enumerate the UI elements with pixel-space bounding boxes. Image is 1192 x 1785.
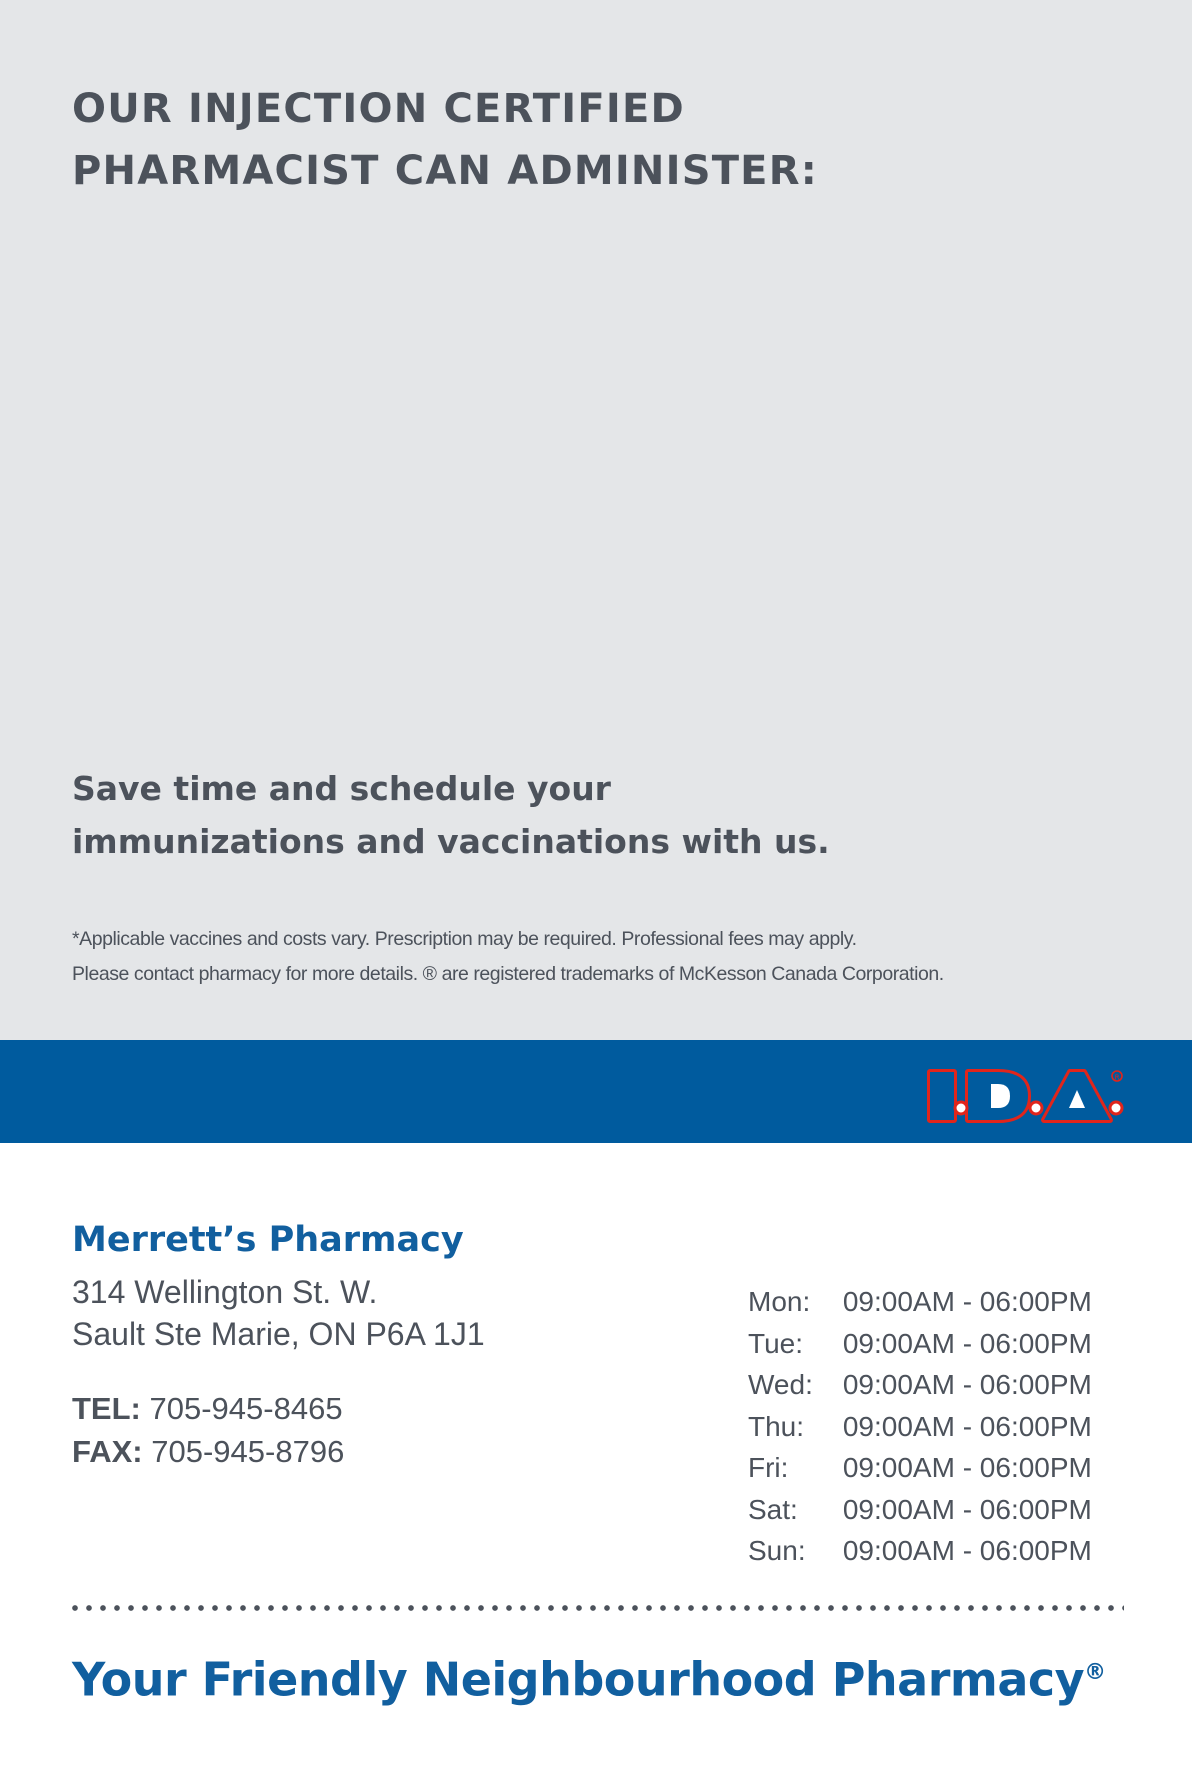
store-name: Merrett’s Pharmacy	[72, 1218, 464, 1262]
store-address: 314 Wellington St. W. Sault Ste Marie, O…	[72, 1271, 485, 1355]
disclaimer-line-1: *Applicable vaccines and costs vary. Pre…	[72, 922, 1132, 957]
ida-logo-icon: R	[924, 1056, 1124, 1126]
promo-message: Save time and schedule your immunization…	[72, 762, 1032, 868]
table-row: Sun: 09:00AM - 06:00PM	[748, 1530, 1092, 1572]
hours-day: Wed:	[748, 1364, 843, 1406]
hours-time: 09:00AM - 06:00PM	[843, 1364, 1092, 1406]
headline-line-1: OUR INJECTION CERTIFIED	[72, 78, 972, 140]
hours-day: Thu:	[748, 1406, 843, 1448]
hours-time: 09:00AM - 06:00PM	[843, 1447, 1092, 1489]
fax-value: 705-945-8796	[151, 1434, 344, 1469]
table-row: Sat: 09:00AM - 06:00PM	[748, 1489, 1092, 1531]
table-row: Thu: 09:00AM - 06:00PM	[748, 1406, 1092, 1448]
hours-time: 09:00AM - 06:00PM	[843, 1489, 1092, 1531]
address-line-2: Sault Ste Marie, ON P6A 1J1	[72, 1313, 485, 1355]
table-row: Tue: 09:00AM - 06:00PM	[748, 1323, 1092, 1365]
hours-day: Sat:	[748, 1489, 843, 1531]
pharmacy-flyer: OUR INJECTION CERTIFIED PHARMACIST CAN A…	[0, 0, 1192, 1785]
telephone-label: TEL:	[72, 1391, 141, 1426]
store-hours-table: Mon: 09:00AM - 06:00PM Tue: 09:00AM - 06…	[748, 1281, 1092, 1572]
headline-line-2: PHARMACIST CAN ADMINISTER:	[72, 140, 972, 202]
table-row: Fri: 09:00AM - 06:00PM	[748, 1447, 1092, 1489]
store-info-section: Merrett’s Pharmacy 314 Wellington St. W.…	[0, 1143, 1192, 1785]
svg-text:R: R	[1115, 1074, 1120, 1082]
hours-time: 09:00AM - 06:00PM	[843, 1406, 1092, 1448]
dotted-divider	[68, 1604, 1124, 1612]
page-title: OUR INJECTION CERTIFIED PHARMACIST CAN A…	[72, 78, 972, 202]
table-row: Mon: 09:00AM - 06:00PM	[748, 1281, 1092, 1323]
promo-line-2: immunizations and vaccinations with us.	[72, 815, 1032, 868]
hours-day: Sun:	[748, 1530, 843, 1572]
promo-line-1: Save time and schedule your	[72, 762, 1032, 815]
hours-day: Mon:	[748, 1281, 843, 1323]
disclaimer-text: *Applicable vaccines and costs vary. Pre…	[72, 922, 1132, 992]
store-contact: TEL: 705-945-8465 FAX: 705-945-8796	[72, 1387, 344, 1473]
table-row: Wed: 09:00AM - 06:00PM	[748, 1364, 1092, 1406]
store-hours-body: Mon: 09:00AM - 06:00PM Tue: 09:00AM - 06…	[748, 1281, 1092, 1572]
hours-day: Fri:	[748, 1447, 843, 1489]
fax-label: FAX:	[72, 1434, 143, 1469]
tagline-text: Your Friendly Neighbourhood Pharmacy	[72, 1652, 1084, 1706]
hours-time: 09:00AM - 06:00PM	[843, 1323, 1092, 1365]
telephone-row: TEL: 705-945-8465	[72, 1387, 344, 1430]
hours-time: 09:00AM - 06:00PM	[843, 1281, 1092, 1323]
telephone-value: 705-945-8465	[150, 1391, 343, 1426]
fax-row: FAX: 705-945-8796	[72, 1430, 344, 1473]
top-panel: OUR INJECTION CERTIFIED PHARMACIST CAN A…	[0, 0, 1192, 1040]
disclaimer-line-2: Please contact pharmacy for more details…	[72, 957, 1132, 992]
vaccine-list-placeholder	[72, 230, 1120, 660]
brand-band: R	[0, 1040, 1192, 1143]
tagline: Your Friendly Neighbourhood Pharmacy®	[72, 1643, 1106, 1709]
hours-day: Tue:	[748, 1323, 843, 1365]
hours-time: 09:00AM - 06:00PM	[843, 1530, 1092, 1572]
address-line-1: 314 Wellington St. W.	[72, 1271, 485, 1313]
tagline-registered-mark: ®	[1084, 1660, 1106, 1685]
